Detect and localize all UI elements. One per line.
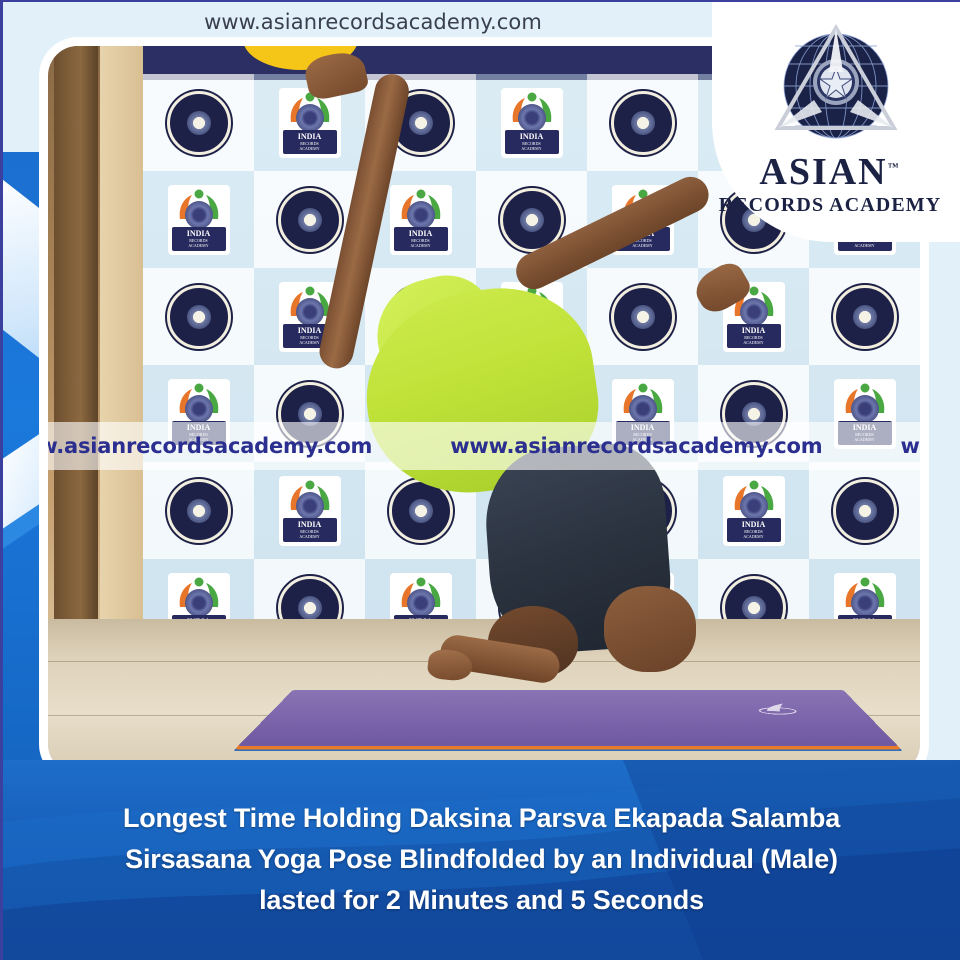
raised-foot [302, 48, 369, 102]
record-caption: Longest Time Holding Daksina Parsva Ekap… [3, 798, 960, 921]
caption-line-2: Sirsasana Yoga Pose Blindfolded by an In… [3, 839, 960, 880]
poster-card: www.asianrecordsacademy.com INDIARECORDS… [0, 0, 960, 960]
trademark-mark: ™ [888, 161, 901, 173]
caption-line-1: Longest Time Holding Daksina Parsva Ekap… [3, 798, 960, 839]
knee [604, 586, 696, 672]
extended-leg [510, 171, 715, 295]
brand-subtitle: RECORDS ACADEMY [712, 194, 948, 217]
globe-triangle-star-emblem-icon [764, 20, 908, 150]
extended-foot [689, 258, 754, 319]
brand-name: ASIAN™ [712, 150, 948, 194]
caption-line-3: lasted for 2 Minutes and 5 Seconds [3, 880, 960, 921]
brand-logo-panel: ASIAN™ RECORDS ACADEMY [712, 2, 960, 242]
header-website-url: www.asianrecordsacademy.com [3, 10, 743, 34]
